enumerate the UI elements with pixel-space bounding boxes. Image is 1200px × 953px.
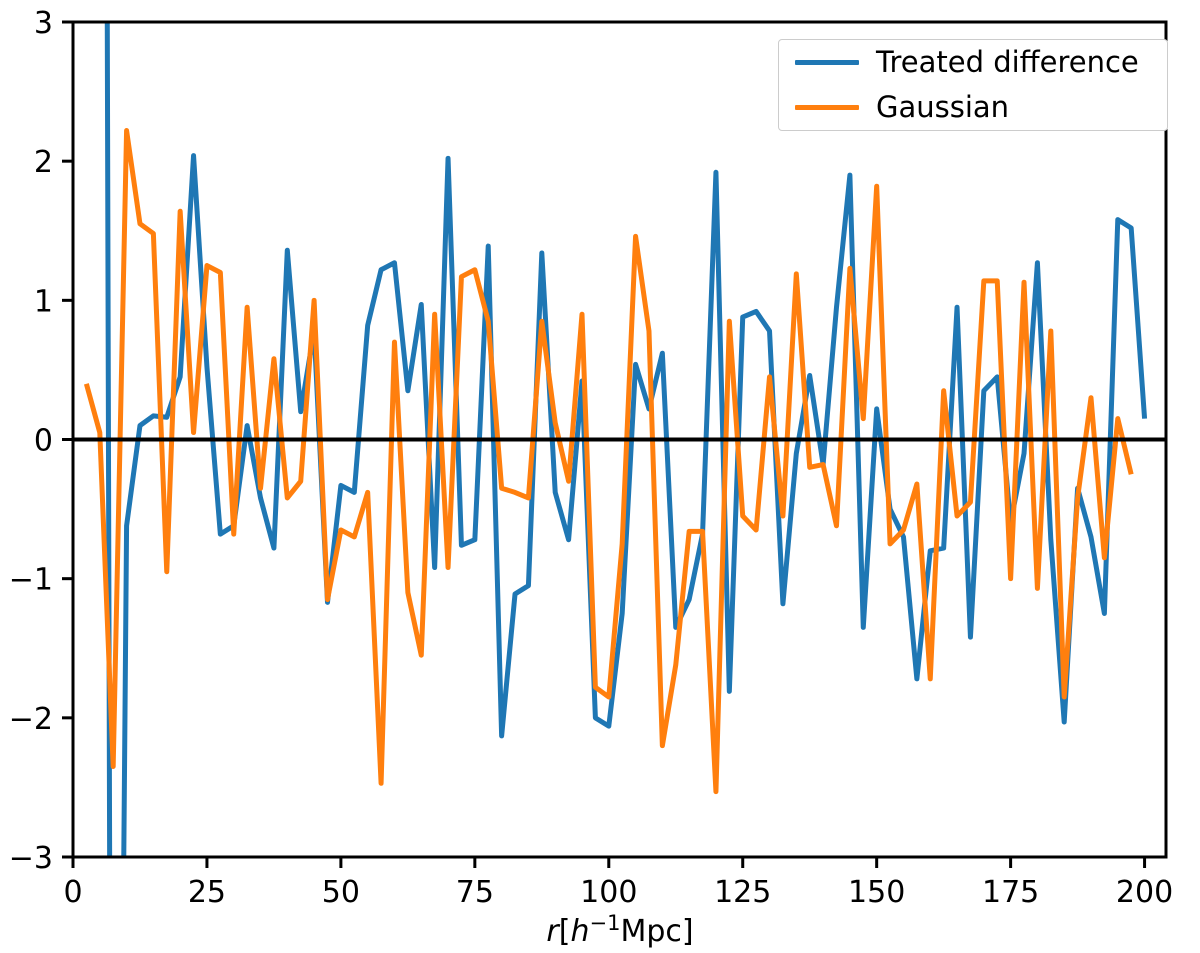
y-tick-label: −3 bbox=[9, 841, 53, 876]
x-axis-label: r[h−1Mpc] bbox=[546, 911, 693, 949]
y-tick-label: 2 bbox=[34, 145, 53, 180]
legend-label-gaussian: Gaussian bbox=[876, 93, 1009, 122]
x-tick-label: 25 bbox=[188, 875, 226, 910]
x-tick-label: 75 bbox=[456, 875, 494, 910]
x-axis-ticks: 0255075100125150175200 bbox=[63, 857, 1173, 910]
x-tick-label: 175 bbox=[982, 875, 1039, 910]
legend-label-treated-difference: Treated difference bbox=[876, 48, 1139, 77]
plot-canvas: 0255075100125150175200 3210−1−2−3 r[h−1M… bbox=[0, 0, 1200, 953]
y-tick-label: −2 bbox=[9, 702, 53, 737]
y-tick-label: −1 bbox=[9, 563, 53, 598]
legend-swatch-treated-difference bbox=[795, 60, 859, 65]
legend-swatch-gaussian bbox=[795, 105, 859, 110]
legend: Treated difference Gaussian bbox=[778, 39, 1168, 131]
x-tick-label: 0 bbox=[63, 875, 82, 910]
x-tick-label: 125 bbox=[714, 875, 771, 910]
y-tick-label: 3 bbox=[34, 6, 53, 41]
y-tick-label: 0 bbox=[34, 424, 53, 459]
x-tick-label: 200 bbox=[1116, 875, 1173, 910]
y-axis-ticks: 3210−1−2−3 bbox=[9, 6, 73, 876]
x-tick-label: 50 bbox=[322, 875, 360, 910]
legend-item-treated-difference: Treated difference bbox=[779, 40, 1167, 85]
legend-item-gaussian: Gaussian bbox=[779, 85, 1167, 130]
chart-figure: 0255075100125150175200 3210−1−2−3 r[h−1M… bbox=[0, 0, 1200, 953]
y-tick-label: 1 bbox=[34, 284, 53, 319]
x-tick-label: 150 bbox=[848, 875, 905, 910]
x-tick-label: 100 bbox=[580, 875, 637, 910]
